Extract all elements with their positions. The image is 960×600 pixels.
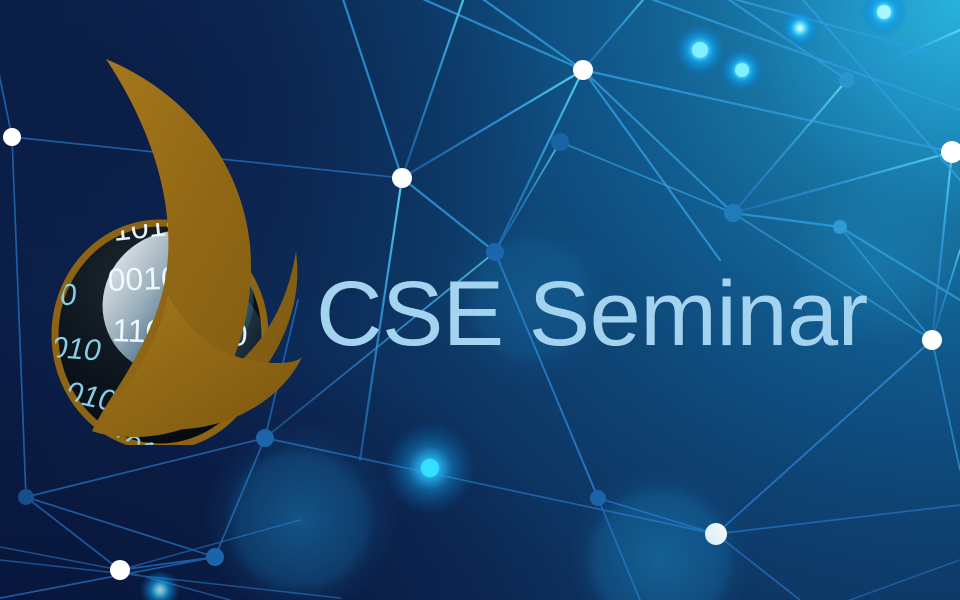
page-title: CSE Seminar bbox=[316, 268, 868, 360]
svg-text:1: 1 bbox=[61, 197, 86, 233]
cse-seminar-banner: 1 10 10 010 010. 01010 1010110 00101010 … bbox=[0, 0, 960, 600]
cse-flame-binary-sphere-logo: 1 10 10 010 010. 01010 1010110 00101010 … bbox=[40, 45, 320, 445]
svg-text:10: 10 bbox=[43, 235, 83, 274]
